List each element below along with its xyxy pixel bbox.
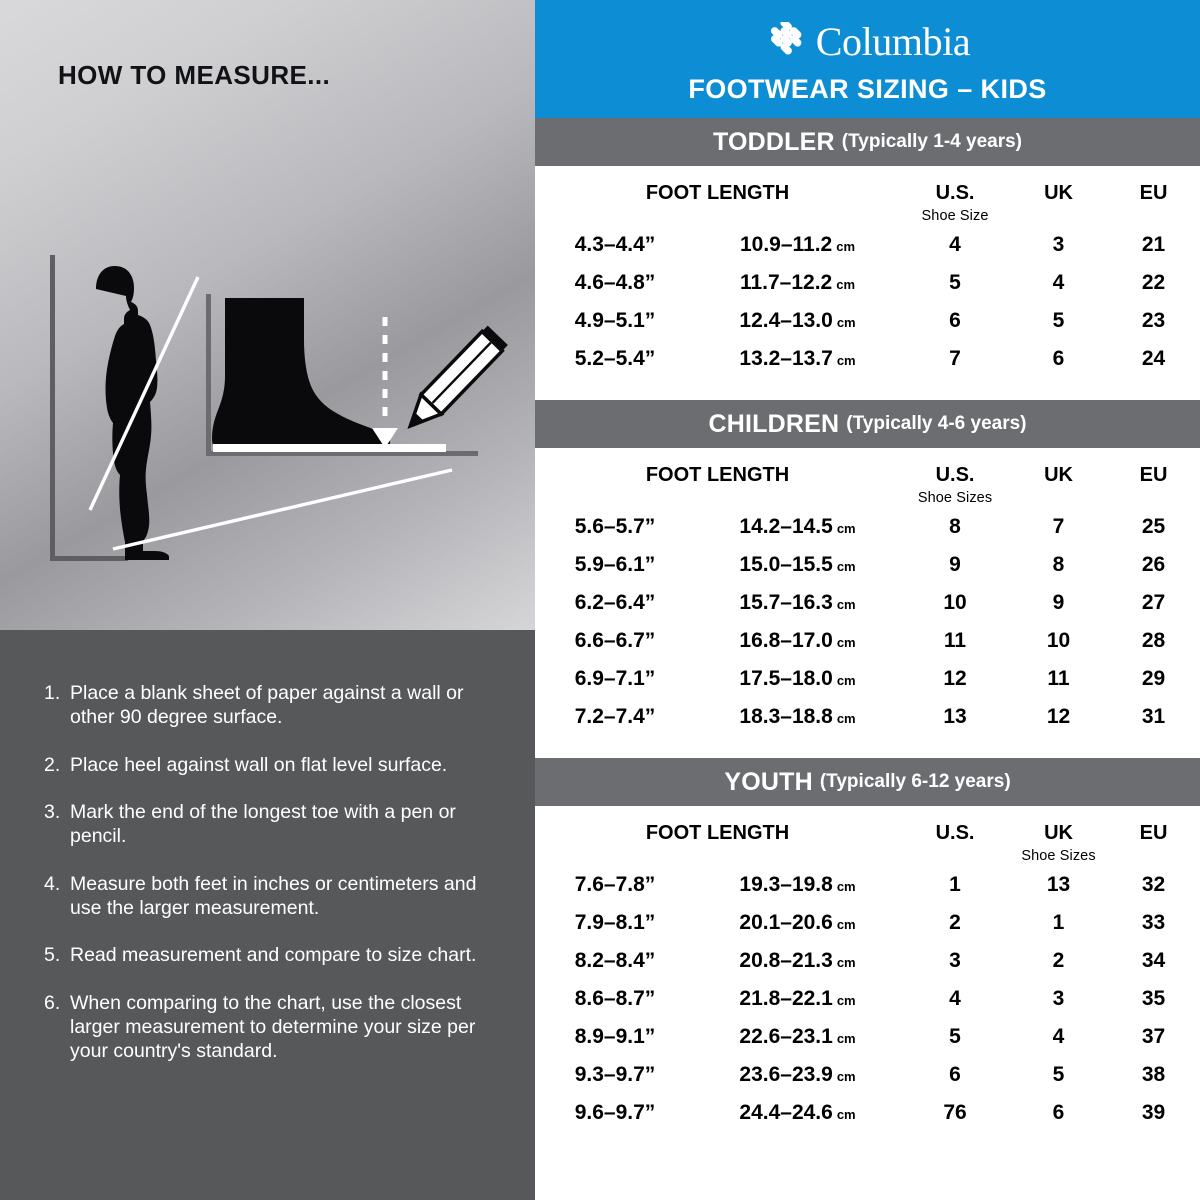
- unit-label: cm: [837, 635, 856, 650]
- step-text: Place a blank sheet of paper against a w…: [70, 682, 491, 730]
- cell-uk: 1: [1010, 904, 1107, 942]
- table-row: 6.9–7.1” 17.5–18.0cm 12 11 29: [535, 660, 1200, 698]
- section-title: CHILDREN: [708, 410, 839, 439]
- list-item: 1. Place a blank sheet of paper against …: [44, 682, 491, 730]
- cell-cm: 14.2–14.5cm: [695, 508, 900, 546]
- cell-eu: 34: [1107, 942, 1200, 980]
- cell-us: 1: [900, 866, 1010, 904]
- list-item: 4. Measure both feet in inches or centim…: [44, 873, 491, 921]
- section-age-range: (Typically 1-4 years): [842, 131, 1022, 153]
- unit-label: cm: [837, 1031, 856, 1046]
- cell-cm: 23.6–23.9cm: [695, 1056, 900, 1094]
- col-header-foot-length: FOOT LENGTH: [535, 448, 900, 508]
- cell-eu: 37: [1107, 1018, 1200, 1056]
- cell-inches: 7.2–7.4”: [535, 698, 695, 736]
- cell-eu: 32: [1107, 866, 1200, 904]
- cell-us: 9: [900, 546, 1010, 584]
- size-table-youth: FOOT LENGTH U.S. UK Shoe Sizes EU: [535, 806, 1200, 1132]
- foot-side-silhouette: [212, 298, 390, 452]
- cell-inches: 4.3–4.4”: [535, 226, 695, 264]
- col-header-uk: UK Shoe Sizes: [1010, 806, 1107, 866]
- cell-uk: 12: [1010, 698, 1107, 736]
- brand-name: Columbia: [816, 18, 971, 65]
- cell-eu: 22: [1107, 264, 1200, 302]
- cell-eu: 23: [1107, 302, 1200, 340]
- cell-inches: 6.2–6.4”: [535, 584, 695, 622]
- unit-label: cm: [837, 559, 856, 574]
- cell-inches: 7.6–7.8”: [535, 866, 695, 904]
- table-row: 4.6–4.8” 11.7–12.2cm 5 4 22: [535, 264, 1200, 302]
- chart-subtitle: FOOTWEAR SIZING – KIDS: [688, 74, 1046, 105]
- cell-us: 6: [900, 1056, 1010, 1094]
- cell-uk: 9: [1010, 584, 1107, 622]
- col-header-us: U.S.: [900, 806, 1010, 866]
- cell-inches: 8.2–8.4”: [535, 942, 695, 980]
- table-header-row: FOOT LENGTH U.S. Shoe Size UK EU: [535, 166, 1200, 226]
- col-header-eu: EU: [1107, 448, 1200, 508]
- table-row: 5.6–5.7” 14.2–14.5cm 8 7 25: [535, 508, 1200, 546]
- cell-inches: 8.6–8.7”: [535, 980, 695, 1018]
- col-header-eu: EU: [1107, 806, 1200, 866]
- section-title: YOUTH: [724, 768, 813, 797]
- cell-us: 3: [900, 942, 1010, 980]
- cell-us: 11: [900, 622, 1010, 660]
- cell-us: 2: [900, 904, 1010, 942]
- cell-cm: 10.9–11.2cm: [695, 226, 900, 264]
- cell-us: 5: [900, 1018, 1010, 1056]
- cell-us: 7: [900, 340, 1010, 378]
- step-number: 1.: [44, 682, 70, 730]
- cell-inches: 5.9–6.1”: [535, 546, 695, 584]
- list-item: 5. Read measurement and compare to size …: [44, 944, 491, 968]
- unit-label: cm: [837, 673, 856, 688]
- cell-eu: 27: [1107, 584, 1200, 622]
- unit-label: cm: [837, 597, 856, 612]
- step-number: 5.: [44, 944, 70, 968]
- col-header-foot-length: FOOT LENGTH: [535, 806, 900, 866]
- cell-eu: 38: [1107, 1056, 1200, 1094]
- cell-uk: 6: [1010, 1094, 1107, 1132]
- step-number: 3.: [44, 801, 70, 849]
- paper-strip: [213, 444, 446, 452]
- cell-cm: 19.3–19.8cm: [695, 866, 900, 904]
- cell-uk: 11: [1010, 660, 1107, 698]
- table-spacer: [535, 378, 1200, 400]
- list-item: 6. When comparing to the chart, use the …: [44, 992, 491, 1063]
- cell-eu: 28: [1107, 622, 1200, 660]
- section-header-toddler: TODDLER (Typically 1-4 years): [535, 118, 1200, 166]
- cell-uk: 4: [1010, 1018, 1107, 1056]
- cell-us: 5: [900, 264, 1010, 302]
- cell-uk: 10: [1010, 622, 1107, 660]
- unit-label: cm: [837, 917, 856, 932]
- instructions-list: 1. Place a blank sheet of paper against …: [0, 630, 535, 1200]
- cell-eu: 24: [1107, 340, 1200, 378]
- cell-uk: 3: [1010, 980, 1107, 1018]
- cell-us: 13: [900, 698, 1010, 736]
- cell-cm: 18.3–18.8cm: [695, 698, 900, 736]
- cell-inches: 4.6–4.8”: [535, 264, 695, 302]
- section-header-youth: YOUTH (Typically 6-12 years): [535, 758, 1200, 806]
- table-row: 4.9–5.1” 12.4–13.0cm 6 5 23: [535, 302, 1200, 340]
- cell-cm: 13.2–13.7cm: [695, 340, 900, 378]
- unit-label: cm: [836, 239, 855, 254]
- table-row: 4.3–4.4” 10.9–11.2cm 4 3 21: [535, 226, 1200, 264]
- table-row: 8.2–8.4” 20.8–21.3cm 3 2 34: [535, 942, 1200, 980]
- sizing-tables-panel: Columbia FOOTWEAR SIZING – KIDS TODDLER …: [535, 0, 1200, 1200]
- size-table-children: FOOT LENGTH U.S. Shoe Sizes UK EU: [535, 448, 1200, 758]
- brand-header: Columbia FOOTWEAR SIZING – KIDS: [535, 0, 1200, 118]
- table-header-row: FOOT LENGTH U.S. Shoe Sizes UK EU: [535, 448, 1200, 508]
- unit-label: cm: [837, 879, 856, 894]
- cell-cm: 15.0–15.5cm: [695, 546, 900, 584]
- unit-label: cm: [837, 993, 856, 1008]
- unit-label: cm: [837, 955, 856, 970]
- measure-illustration: [0, 0, 535, 630]
- unit-label: cm: [837, 521, 856, 536]
- unit-label: cm: [837, 1069, 856, 1084]
- unit-label: cm: [837, 1107, 856, 1122]
- col-header-us: U.S. Shoe Size: [900, 166, 1010, 226]
- cell-eu: 26: [1107, 546, 1200, 584]
- cell-uk: 3: [1010, 226, 1107, 264]
- how-to-measure-panel: HOW TO MEASURE...: [0, 0, 535, 1200]
- standing-person-silhouette: [96, 266, 169, 560]
- cell-eu: 39: [1107, 1094, 1200, 1132]
- cell-uk: 6: [1010, 340, 1107, 378]
- cell-us: 10: [900, 584, 1010, 622]
- cell-cm: 16.8–17.0cm: [695, 622, 900, 660]
- cell-inches: 8.9–9.1”: [535, 1018, 695, 1056]
- cell-inches: 6.6–6.7”: [535, 622, 695, 660]
- cell-inches: 4.9–5.1”: [535, 302, 695, 340]
- col-header-eu: EU: [1107, 166, 1200, 226]
- cell-uk: 8: [1010, 546, 1107, 584]
- cell-eu: 35: [1107, 980, 1200, 1018]
- cell-cm: 20.1–20.6cm: [695, 904, 900, 942]
- cell-inches: 5.6–5.7”: [535, 508, 695, 546]
- section-age-range: (Typically 6-12 years): [820, 771, 1011, 793]
- cell-us: 8: [900, 508, 1010, 546]
- cell-cm: 15.7–16.3cm: [695, 584, 900, 622]
- list-item: 2. Place heel against wall on flat level…: [44, 754, 491, 778]
- col-header-uk: UK: [1010, 448, 1107, 508]
- cell-eu: 33: [1107, 904, 1200, 942]
- cell-uk: 4: [1010, 264, 1107, 302]
- table-row: 8.6–8.7” 21.8–22.1cm 4 3 35: [535, 980, 1200, 1018]
- list-item: 3. Mark the end of the longest toe with …: [44, 801, 491, 849]
- cell-inches: 6.9–7.1”: [535, 660, 695, 698]
- step-text: When comparing to the chart, use the clo…: [70, 992, 491, 1063]
- col-subheader-us: Shoe Size: [900, 208, 1010, 224]
- col-header-uk: UK: [1010, 166, 1107, 226]
- cell-uk: 7: [1010, 508, 1107, 546]
- unit-label: cm: [837, 315, 856, 330]
- cell-uk: 2: [1010, 942, 1107, 980]
- table-header-row: FOOT LENGTH U.S. UK Shoe Sizes EU: [535, 806, 1200, 866]
- cell-inches: 9.6–9.7”: [535, 1094, 695, 1132]
- cell-cm: 11.7–12.2cm: [695, 264, 900, 302]
- section-age-range: (Typically 4-6 years): [846, 413, 1026, 435]
- step-text: Mark the end of the longest toe with a p…: [70, 801, 491, 849]
- cell-cm: 21.8–22.1cm: [695, 980, 900, 1018]
- cell-us: 4: [900, 980, 1010, 1018]
- columbia-diamond-logo: [765, 22, 807, 60]
- cell-eu: 29: [1107, 660, 1200, 698]
- cell-cm: 20.8–21.3cm: [695, 942, 900, 980]
- col-header-foot-length: FOOT LENGTH: [535, 166, 900, 226]
- table-row: 7.6–7.8” 19.3–19.8cm 1 13 32: [535, 866, 1200, 904]
- cell-cm: 24.4–24.6cm: [695, 1094, 900, 1132]
- table-row: 5.2–5.4” 13.2–13.7cm 7 6 24: [535, 340, 1200, 378]
- cell-cm: 22.6–23.1cm: [695, 1018, 900, 1056]
- cell-uk: 5: [1010, 1056, 1107, 1094]
- cell-cm: 17.5–18.0cm: [695, 660, 900, 698]
- cell-eu: 31: [1107, 698, 1200, 736]
- table-row: 7.9–8.1” 20.1–20.6cm 2 1 33: [535, 904, 1200, 942]
- step-number: 4.: [44, 873, 70, 921]
- cell-eu: 21: [1107, 226, 1200, 264]
- table-spacer: [535, 736, 1200, 758]
- table-row: 5.9–6.1” 15.0–15.5cm 9 8 26: [535, 546, 1200, 584]
- unit-label: cm: [837, 353, 856, 368]
- table-row: 8.9–9.1” 22.6–23.1cm 5 4 37: [535, 1018, 1200, 1056]
- cell-eu: 25: [1107, 508, 1200, 546]
- table-row: 6.6–6.7” 16.8–17.0cm 11 10 28: [535, 622, 1200, 660]
- step-text: Read measurement and compare to size cha…: [70, 944, 491, 968]
- cell-us: 4: [900, 226, 1010, 264]
- table-row: 7.2–7.4” 18.3–18.8cm 13 12 31: [535, 698, 1200, 736]
- step-number: 2.: [44, 754, 70, 778]
- step-number: 6.: [44, 992, 70, 1063]
- table-row: 6.2–6.4” 15.7–16.3cm 10 9 27: [535, 584, 1200, 622]
- col-subheader-uk: Shoe Sizes: [1010, 848, 1107, 864]
- section-title: TODDLER: [713, 128, 835, 157]
- cell-uk: 13: [1010, 866, 1107, 904]
- cell-uk: 5: [1010, 302, 1107, 340]
- col-subheader-us: Shoe Sizes: [900, 490, 1010, 506]
- cell-us: 6: [900, 302, 1010, 340]
- size-chart-page: HOW TO MEASURE...: [0, 0, 1200, 1200]
- pencil-icon: [400, 326, 508, 436]
- cell-us: 76: [900, 1094, 1010, 1132]
- unit-label: cm: [836, 277, 855, 292]
- size-table-toddler: FOOT LENGTH U.S. Shoe Size UK EU: [535, 166, 1200, 400]
- section-header-children: CHILDREN (Typically 4-6 years): [535, 400, 1200, 448]
- table-row: 9.3–9.7” 23.6–23.9cm 6 5 38: [535, 1056, 1200, 1094]
- col-header-us: U.S. Shoe Sizes: [900, 448, 1010, 508]
- table-row: 9.6–9.7” 24.4–24.6cm 76 6 39: [535, 1094, 1200, 1132]
- illustration-panel: HOW TO MEASURE...: [0, 0, 535, 630]
- cell-cm: 12.4–13.0cm: [695, 302, 900, 340]
- unit-label: cm: [837, 711, 856, 726]
- cell-inches: 7.9–8.1”: [535, 904, 695, 942]
- cell-us: 12: [900, 660, 1010, 698]
- step-text: Place heel against wall on flat level su…: [70, 754, 491, 778]
- step-text: Measure both feet in inches or centimete…: [70, 873, 491, 921]
- cell-inches: 5.2–5.4”: [535, 340, 695, 378]
- cell-inches: 9.3–9.7”: [535, 1056, 695, 1094]
